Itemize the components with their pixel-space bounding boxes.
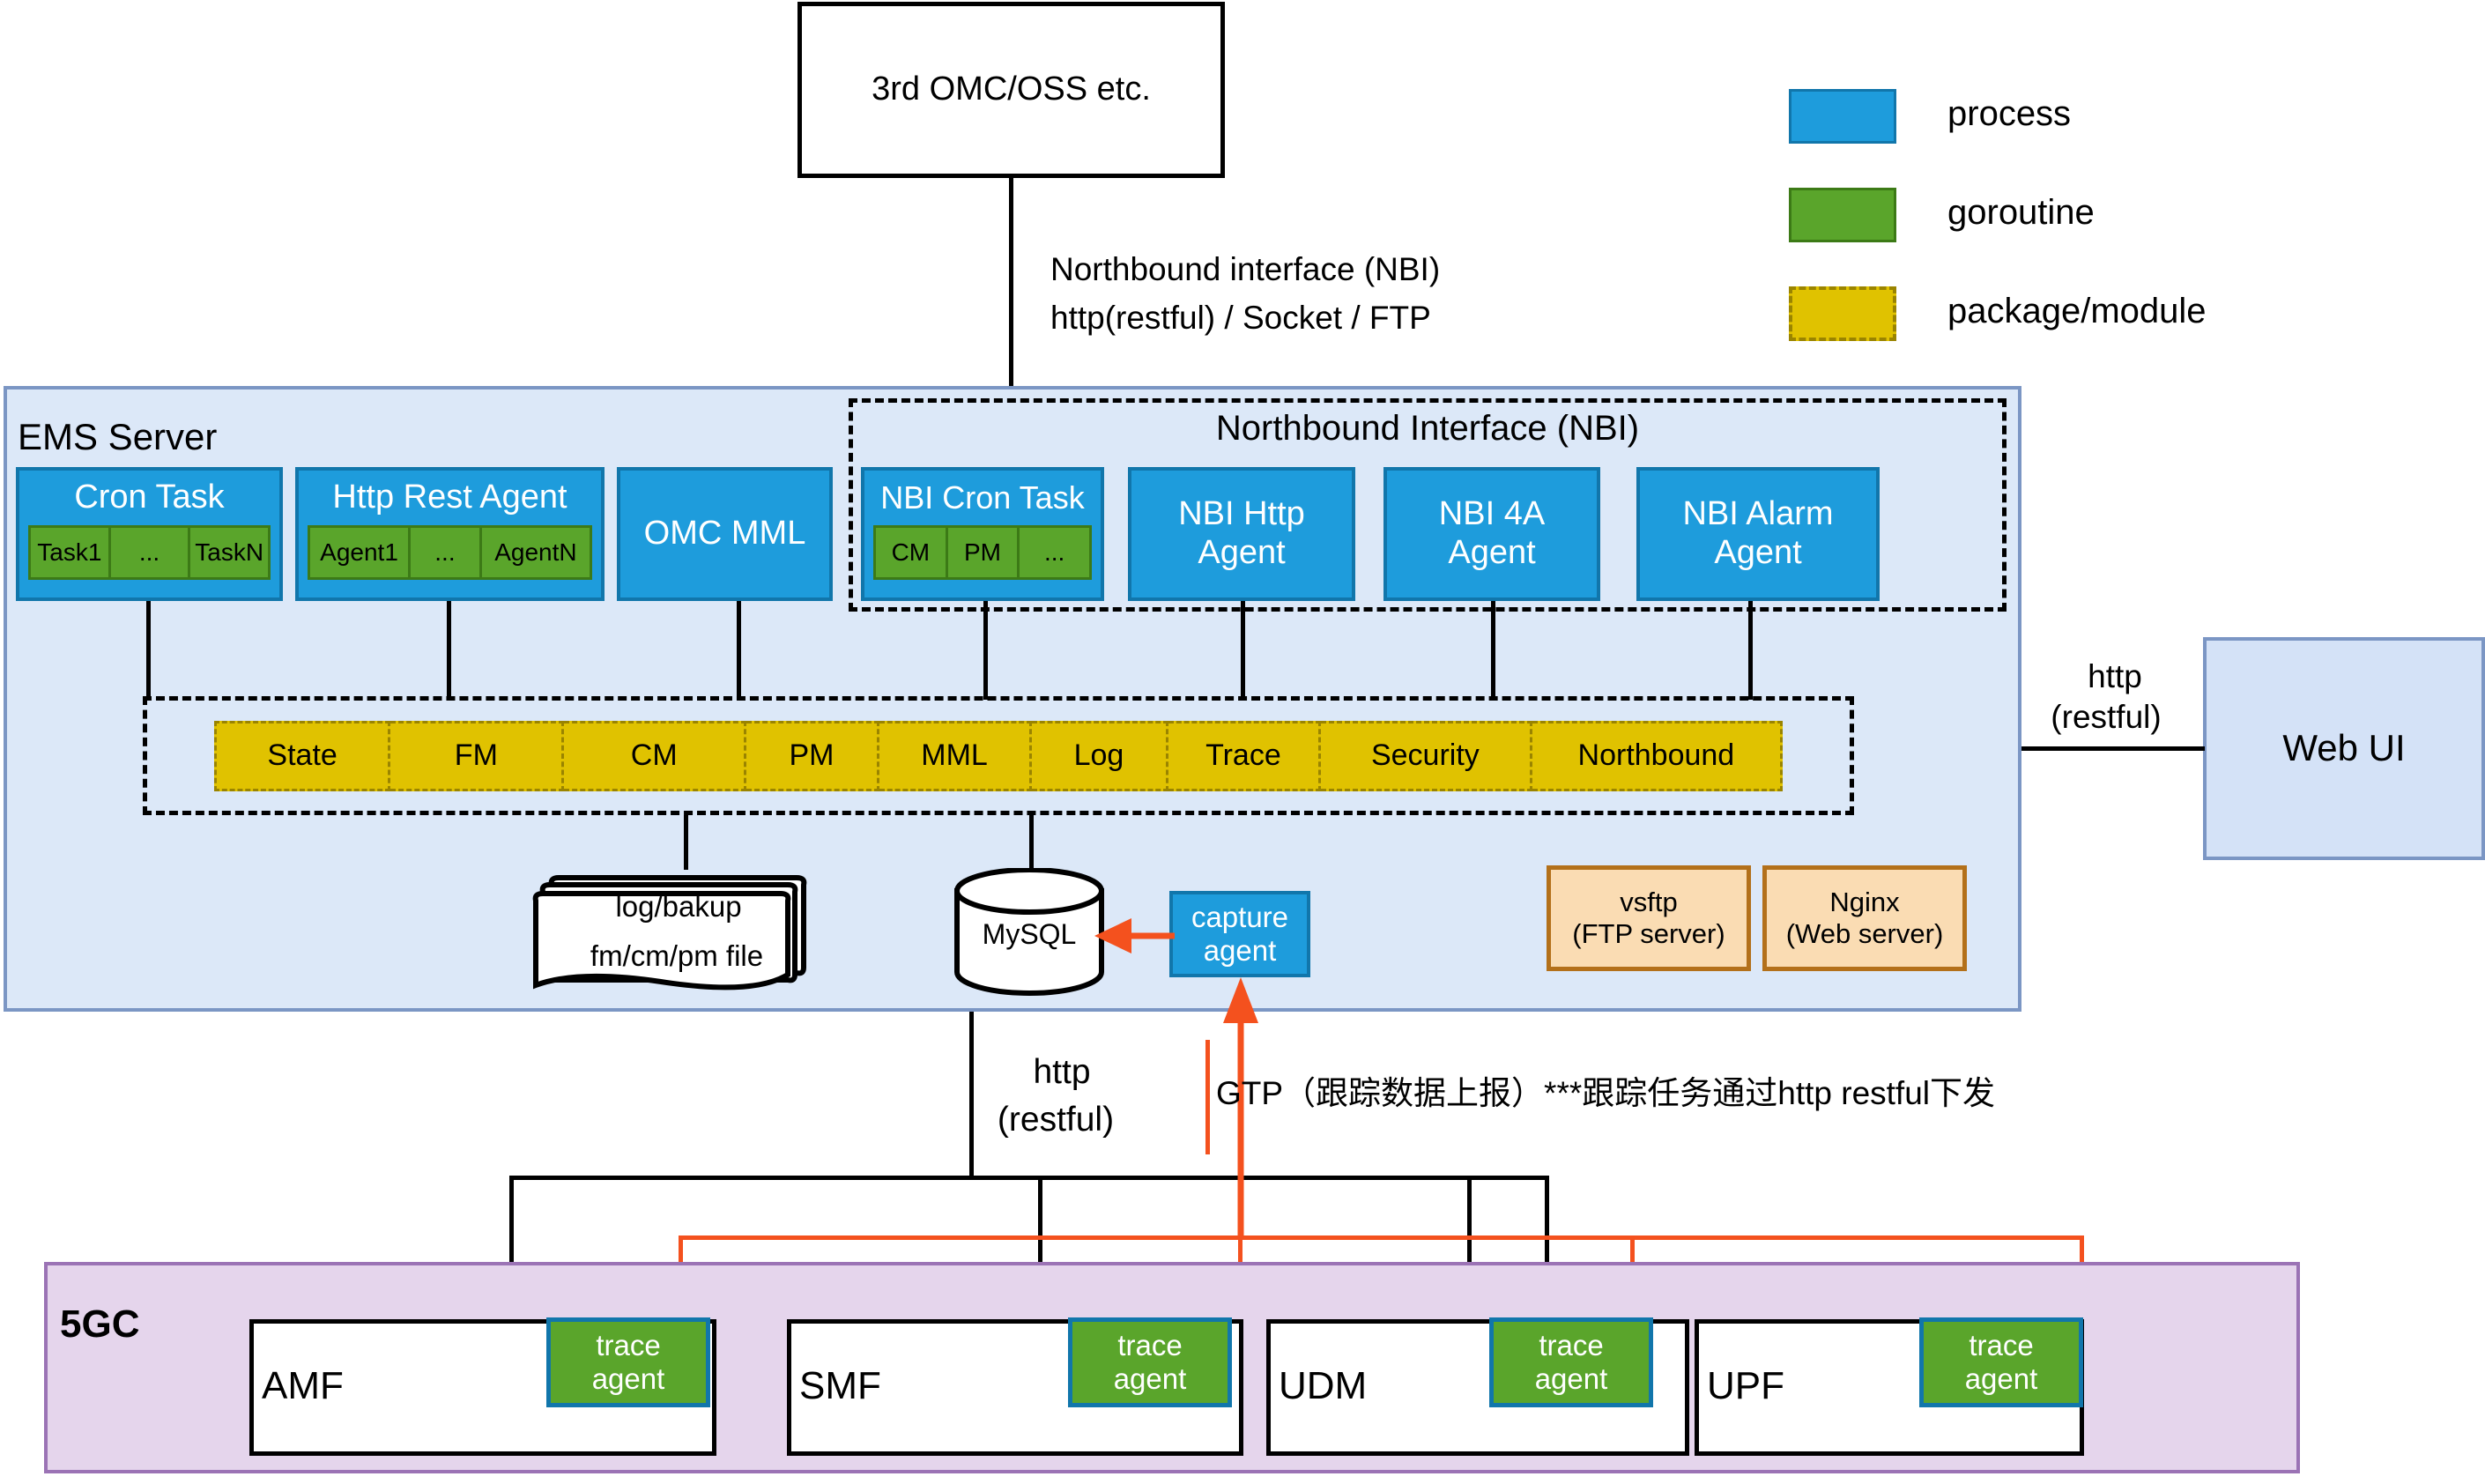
legend: process goroutine package/module xyxy=(1789,84,2335,339)
http-restful-trunk-vertical xyxy=(969,1012,974,1177)
gtp-bus-horizontal xyxy=(679,1235,2084,1240)
module-mml[interactable]: MML xyxy=(879,721,1032,791)
process-title-http-rest-agent: Http Rest Agent xyxy=(299,471,601,525)
goroutine-cm[interactable]: CM xyxy=(873,525,948,580)
trace-agent-smf[interactable]: trace agent xyxy=(1068,1317,1232,1407)
process-box-cron-task[interactable]: Cron Task Task1 ... TaskN xyxy=(16,467,283,601)
nbi-alarm-agent-line2: Agent xyxy=(1714,534,1801,573)
http-restful-bus-horizontal xyxy=(509,1176,1549,1180)
goroutine-agentn[interactable]: AgentN xyxy=(482,525,592,580)
module-bar: State FM CM PM MML Log Trace Security No… xyxy=(214,721,1783,791)
trace-agent-amf[interactable]: trace agent xyxy=(546,1317,710,1407)
capture-agent-box[interactable]: capture agent xyxy=(1169,891,1310,977)
goroutine-taskn[interactable]: TaskN xyxy=(190,525,271,580)
http-restful-label-line1: http xyxy=(974,1052,1150,1093)
web-ui-panel[interactable]: Web UI xyxy=(2203,637,2485,860)
nf-label-smf: SMF xyxy=(799,1364,881,1408)
connector-http-rest xyxy=(447,601,451,700)
web-ui-connector-line xyxy=(2021,746,2205,751)
trace-agent-upf-line1: trace xyxy=(1969,1329,2033,1362)
web-ui-title: Web UI xyxy=(2282,727,2405,769)
process-box-http-rest-agent[interactable]: Http Rest Agent Agent1 ... AgentN xyxy=(295,467,605,601)
module-cm[interactable]: CM xyxy=(564,721,745,791)
fivegc-title: 5GC xyxy=(60,1302,139,1347)
ems-server-title: EMS Server xyxy=(18,416,217,458)
connector-nbi-alarm xyxy=(1748,601,1753,700)
nf-label-udm: UDM xyxy=(1279,1364,1367,1408)
connector-module-to-mysql xyxy=(1029,815,1034,870)
trace-agent-amf-line1: trace xyxy=(596,1329,660,1362)
goroutine-pm[interactable]: PM xyxy=(948,525,1020,580)
connector-omc-mml xyxy=(737,601,741,700)
trace-agent-udm-line1: trace xyxy=(1539,1329,1603,1362)
trace-agent-upf-line2: agent xyxy=(1965,1362,2038,1396)
vsftp-line2: (FTP server) xyxy=(1572,918,1725,950)
capture-to-db-arrow xyxy=(1091,916,1175,955)
module-trace[interactable]: Trace xyxy=(1168,721,1321,791)
goroutine-ellipsis[interactable]: ... xyxy=(411,525,482,580)
legend-swatch-goroutine xyxy=(1789,188,1896,242)
process-box-nbi-4a-agent[interactable]: NBI 4A Agent xyxy=(1383,467,1600,601)
connector-nbi-4a xyxy=(1491,601,1495,700)
nbi-http-agent-line2: Agent xyxy=(1198,534,1285,573)
connector-nbi-cron-task xyxy=(983,601,988,700)
process-box-nbi-http-agent[interactable]: NBI Http Agent xyxy=(1128,467,1355,601)
nbi-4a-agent-line2: Agent xyxy=(1448,534,1535,573)
capture-agent-line2: agent xyxy=(1204,934,1277,968)
connector-cron-task xyxy=(146,601,151,700)
third-party-omc-oss-box: 3rd OMC/OSS etc. xyxy=(797,2,1225,178)
web-ui-link-label-line2: (restful) xyxy=(2018,698,2194,737)
file-store-label-line2: fm/cm/pm file xyxy=(545,938,809,975)
trace-agent-udm[interactable]: trace agent xyxy=(1489,1317,1653,1407)
nginx-line2: (Web server) xyxy=(1786,918,1944,950)
nbi-http-agent-line1: NBI Http xyxy=(1178,495,1305,534)
nbi-link-label-line2: http(restful) / Socket / FTP xyxy=(1050,300,1431,337)
process-box-nbi-alarm-agent[interactable]: NBI Alarm Agent xyxy=(1636,467,1880,601)
connector-nbi-http xyxy=(1241,601,1245,700)
module-log[interactable]: Log xyxy=(1032,721,1168,791)
nf-label-upf: UPF xyxy=(1707,1364,1784,1408)
nbi-alarm-agent-line1: NBI Alarm xyxy=(1682,495,1833,534)
module-security[interactable]: Security xyxy=(1321,721,1532,791)
http-restful-label-line2: (restful) xyxy=(968,1100,1144,1140)
nbi-connector-line xyxy=(1009,178,1013,388)
vsftp-line1: vsftp xyxy=(1620,887,1677,918)
database-label: MySQL xyxy=(950,916,1109,952)
legend-swatch-module xyxy=(1789,286,1896,341)
nginx-server-box[interactable]: Nginx (Web server) xyxy=(1762,865,1967,971)
process-title-cron-task: Cron Task xyxy=(19,471,279,525)
nbi-group-title: Northbound Interface (NBI) xyxy=(849,407,2007,449)
gtp-note-label: GTP（跟踪数据上报）***跟踪任务通过http restful下发 xyxy=(1216,1066,1995,1114)
module-northbound[interactable]: Northbound xyxy=(1532,721,1783,791)
trace-agent-udm-line2: agent xyxy=(1535,1362,1608,1396)
trace-agent-amf-line2: agent xyxy=(592,1362,665,1396)
legend-label-process: process xyxy=(1947,94,2071,134)
goroutine-ellipsis[interactable]: ... xyxy=(111,525,191,580)
module-fm[interactable]: FM xyxy=(390,721,564,791)
goroutine-ellipsis[interactable]: ... xyxy=(1020,525,1092,580)
legend-label-goroutine: goroutine xyxy=(1947,193,2095,233)
goroutine-agent1[interactable]: Agent1 xyxy=(308,525,411,580)
trace-agent-smf-line2: agent xyxy=(1114,1362,1187,1396)
capture-agent-line1: capture xyxy=(1191,901,1288,934)
third-party-omc-oss-label: 3rd OMC/OSS etc. xyxy=(872,70,1151,109)
nf-label-amf: AMF xyxy=(262,1364,344,1408)
web-ui-link-label-line1: http xyxy=(2027,657,2203,696)
legend-label-module: package/module xyxy=(1947,292,2207,331)
module-state[interactable]: State xyxy=(214,721,390,791)
file-store-label-line1: log/bakup xyxy=(546,888,811,925)
vsftp-server-box[interactable]: vsftp (FTP server) xyxy=(1547,865,1751,971)
nbi-link-label-line1: Northbound interface (NBI) xyxy=(1050,251,1440,288)
trace-agent-upf[interactable]: trace agent xyxy=(1919,1317,2083,1407)
trace-agent-smf-line1: trace xyxy=(1117,1329,1182,1362)
nginx-line1: Nginx xyxy=(1829,887,1899,918)
gtp-note-divider xyxy=(1205,1040,1210,1154)
process-box-omc-mml[interactable]: OMC MML xyxy=(617,467,833,601)
goroutine-task1[interactable]: Task1 xyxy=(28,525,111,580)
nbi-4a-agent-line1: NBI 4A xyxy=(1439,495,1545,534)
process-title-nbi-cron-task: NBI Cron Task xyxy=(864,471,1101,525)
process-box-nbi-cron-task[interactable]: NBI Cron Task CM PM ... xyxy=(861,467,1104,601)
module-pm[interactable]: PM xyxy=(746,721,879,791)
legend-swatch-process xyxy=(1789,89,1896,144)
